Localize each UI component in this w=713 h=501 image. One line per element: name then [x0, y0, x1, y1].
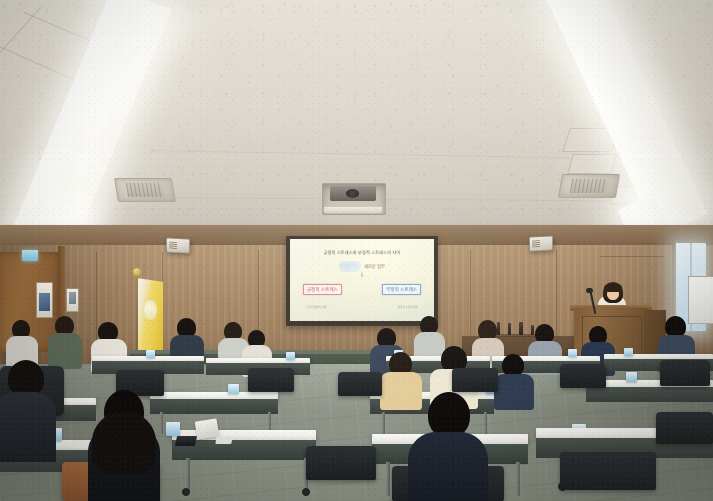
wall-panel-seam [470, 250, 471, 336]
chair[interactable] [306, 446, 376, 480]
chair[interactable] [338, 372, 382, 396]
desk-caster [182, 488, 190, 496]
slide-center-label: 새로운 업무 [364, 264, 385, 270]
wall-poster-large [36, 282, 53, 318]
chair[interactable] [248, 368, 294, 392]
desk-leg [160, 412, 163, 434]
down-arrow-icon: ⇩ [359, 273, 364, 279]
side-whiteboard [688, 276, 713, 324]
chair[interactable] [560, 452, 656, 490]
wall-speaker-left [166, 237, 190, 253]
slide-caption-left: 도전과 성장의 기회 [306, 305, 327, 309]
flag-finial-icon [133, 268, 141, 276]
wall-panel-seam [556, 250, 557, 344]
projector-lens-icon [346, 189, 359, 198]
tissue-box [286, 352, 295, 360]
gooseneck-microphone-icon [586, 288, 593, 293]
desk-leg [382, 412, 385, 434]
chair[interactable] [560, 364, 606, 388]
desk-leg [186, 458, 190, 492]
desk-leg [386, 462, 390, 496]
hvac-vent-right [558, 174, 620, 198]
desk-caster [302, 488, 310, 496]
tissue-box [626, 372, 637, 382]
presenter-hair-front [604, 283, 622, 292]
slide-box-positive-stress: 긍정적 스트레스 [303, 284, 342, 295]
chair[interactable] [656, 412, 713, 444]
trophy [497, 322, 500, 335]
tissue-box [146, 350, 155, 358]
tissue-box [624, 348, 633, 356]
paper-sheet[interactable] [215, 436, 232, 444]
wall-panel-seam [96, 252, 97, 352]
emergency-exit-sign-icon [22, 250, 38, 261]
tissue-box [568, 349, 577, 357]
smartphone-on-desk[interactable] [175, 436, 197, 446]
desk-modesty-panel [150, 399, 278, 414]
desk-leg [484, 412, 487, 434]
ceiling-access-panel [567, 154, 617, 174]
projector-recess-lip [324, 207, 382, 213]
chair[interactable] [660, 360, 710, 386]
wall-panel-seam [258, 250, 259, 340]
slide-box-negative-stress: 부정적 스트레스 [382, 284, 421, 295]
wall-poster-small [66, 288, 79, 312]
thought-cloud-icon [339, 261, 361, 272]
slide-caption-right: 불안과 소진의 원인 [398, 305, 419, 309]
slide-center-group: 새로운 업무 [322, 261, 403, 272]
chair[interactable] [452, 368, 498, 392]
wall-speaker-right [529, 235, 553, 251]
slide-title: 긍정적 스트레스와 부정적 스트레스의 차이 [302, 250, 423, 256]
trophy [519, 322, 523, 335]
tissue-box [166, 422, 180, 436]
trophy [531, 325, 534, 335]
hvac-vent-left [114, 178, 176, 202]
flag-emblem [144, 300, 157, 320]
wall-panel-seam [600, 256, 664, 257]
projection-screen: 긍정적 스트레스와 부정적 스트레스의 차이 새로운 업무 ⇩ 긍정적 스트레스… [290, 239, 434, 321]
trophy [508, 323, 511, 335]
lecture-hall-photo: 긍정적 스트레스와 부정적 스트레스의 차이 새로운 업무 ⇩ 긍정적 스트레스… [0, 0, 713, 501]
desk-leg [516, 462, 520, 496]
tissue-box [228, 384, 239, 394]
desk-modesty-panel [586, 387, 713, 402]
